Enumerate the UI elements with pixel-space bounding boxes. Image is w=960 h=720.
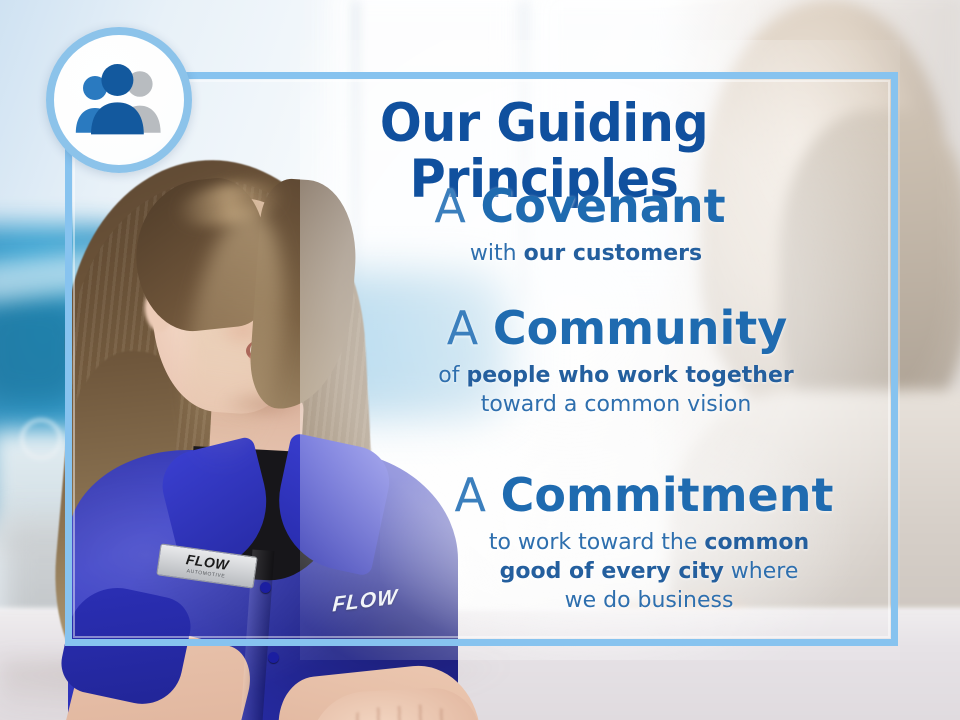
principle-heading: A Covenant [300, 180, 878, 233]
subtext-part-bold: people who work together [466, 363, 793, 388]
principle-heading: A Community [300, 302, 878, 355]
principle-lead: A [447, 301, 493, 355]
principle-lead: A [434, 179, 480, 233]
subtext-part: we do business [565, 588, 734, 613]
principle-commitment: A Commitment to work toward the common g… [300, 469, 878, 615]
subtext-part-bold: our customers [524, 241, 703, 266]
principle-heading: A Commitment [300, 469, 878, 522]
subtext-part: where [724, 559, 799, 584]
principle-keyword: Commitment [501, 468, 834, 522]
subtext-line: we do business [420, 586, 878, 615]
subtext-part: toward a common vision [481, 392, 752, 417]
subtext-part: to work toward the [489, 530, 705, 555]
principle-community: A Community of people who work together … [300, 302, 878, 419]
principle-keyword: Covenant [481, 179, 726, 233]
principle-lead: A [455, 468, 501, 522]
subtext-line: toward a common vision [354, 390, 878, 419]
subtext-part: of [438, 363, 466, 388]
principle-keyword: Community [493, 301, 787, 355]
banner-image: FLOW AUTOMOTIVE FLOW [0, 0, 960, 720]
principle-covenant: A Covenant with our customers [300, 180, 878, 268]
principle-subtext: with our customers [300, 239, 878, 268]
shirt-button [260, 582, 271, 593]
principle-subtext: to work toward the common good of every … [300, 528, 878, 615]
principle-subtext: of people who work together toward a com… [300, 361, 878, 419]
people-group-icon [71, 62, 167, 138]
subtext-line: with our customers [470, 241, 702, 266]
subtext-part-bold: good of every city [500, 559, 724, 584]
subtext-part: with [470, 241, 524, 266]
subtext-line: of people who work together [354, 361, 878, 390]
people-badge [46, 27, 192, 173]
shirt-button [268, 652, 279, 663]
subtext-line: to work toward the common [420, 528, 878, 557]
subtext-line: good of every city where [420, 557, 878, 586]
subtext-part-bold: common [704, 530, 809, 555]
